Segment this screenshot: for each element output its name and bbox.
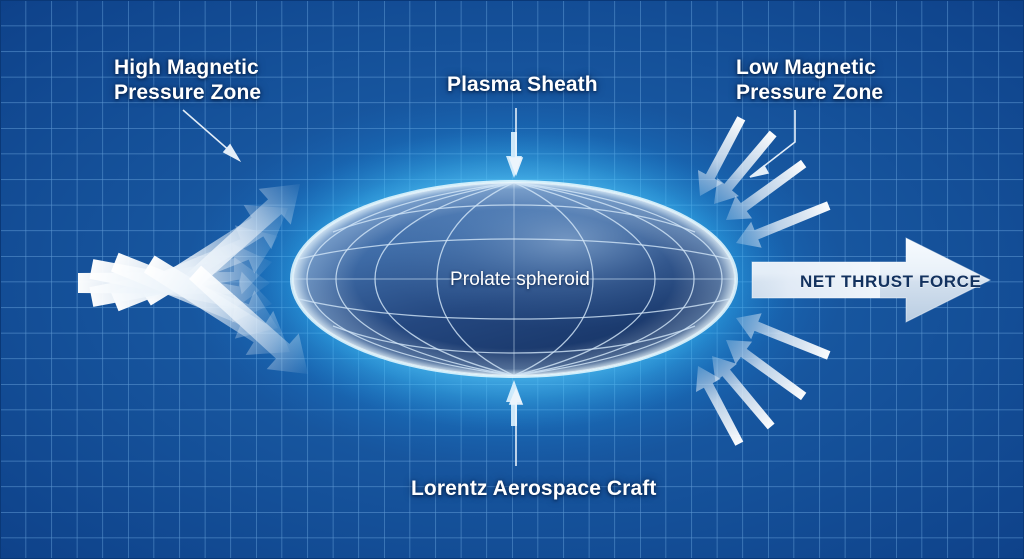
- diagram-canvas: High Magnetic Pressure Zone Plasma Sheat…: [0, 0, 1024, 559]
- axis-pressure-arrows: [506, 132, 522, 426]
- net-thrust-arrow: [752, 238, 990, 322]
- high-pressure-arrow-group: [78, 166, 324, 392]
- leader-lines: [183, 108, 795, 466]
- leader-high-pressure: [183, 110, 239, 160]
- force-arrows-layer: [0, 0, 1024, 559]
- leader-craft-name: [510, 390, 522, 466]
- leader-low-pressure: [750, 110, 795, 177]
